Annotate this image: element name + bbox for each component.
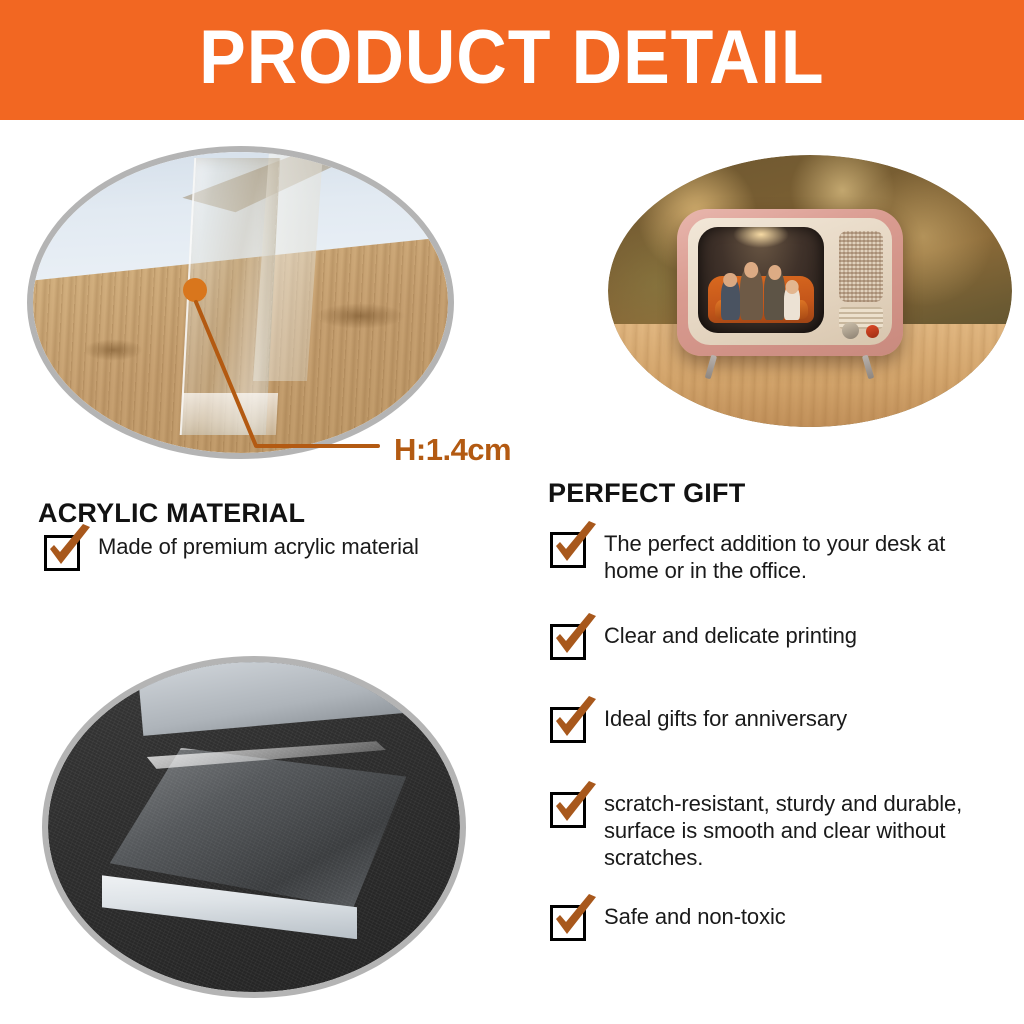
- feature-text: The perfect addition to your desk at hom…: [604, 530, 1002, 584]
- tv-speaker-grille: [839, 231, 884, 302]
- figure-head: [786, 280, 799, 293]
- tv-screen: [698, 227, 824, 333]
- figure-head: [724, 273, 738, 287]
- photo-acrylic-block-edge-on-wood-table: [33, 152, 448, 453]
- checkmark-icon: [549, 694, 601, 746]
- checkbox-checked[interactable]: [550, 624, 586, 660]
- figure-father: [740, 267, 763, 320]
- feature-item-scratch-resistant: scratch-resistant, sturdy and durable, s…: [550, 790, 1002, 871]
- feature-item-desk-addition: The perfect addition to your desk at hom…: [550, 530, 1002, 584]
- feature-text: Clear and delicate printing: [604, 622, 857, 649]
- feature-item-acrylic-material: Made of premium acrylic material: [44, 533, 514, 571]
- figure-head: [744, 262, 758, 278]
- checkmark-icon: [549, 611, 601, 663]
- figure-head: [768, 265, 781, 280]
- feature-item-safe-non-toxic: Safe and non-toxic: [550, 903, 1002, 941]
- checkmark-icon: [549, 892, 601, 944]
- photo-retro-tv-with-family: [608, 155, 1012, 427]
- feature-text: Ideal gifts for anniversary: [604, 705, 847, 732]
- wood-grain-knot: [315, 303, 405, 329]
- checkbox-checked[interactable]: [550, 792, 586, 828]
- checkbox-checked[interactable]: [44, 535, 80, 571]
- photo-acrylic-edge-image: [33, 152, 448, 453]
- checkbox-checked[interactable]: [550, 707, 586, 743]
- feature-item-clear-printing: Clear and delicate printing: [550, 622, 1002, 660]
- tv-front-panel: [688, 218, 892, 344]
- retro-tv-body: [677, 209, 903, 356]
- checkmark-icon: [549, 519, 601, 571]
- thickness-callout-dot: [183, 278, 207, 302]
- photo-clear-acrylic-block-on-slate: [48, 662, 460, 992]
- tv-tuner-knob: [842, 322, 859, 339]
- feature-item-anniversary-gift: Ideal gifts for anniversary: [550, 705, 1002, 743]
- checkbox-checked[interactable]: [550, 905, 586, 941]
- screen-glow: [733, 227, 789, 248]
- section-heading-perfect-gift: PERFECT GIFT: [548, 478, 745, 509]
- header-banner: PRODUCT DETAIL: [0, 0, 1024, 120]
- checkmark-icon: [43, 522, 95, 574]
- feature-text: Made of premium acrylic material: [98, 533, 419, 560]
- feature-text: Safe and non-toxic: [604, 903, 786, 930]
- page-title: PRODUCT DETAIL: [199, 20, 824, 96]
- photo-retro-tv-image: [608, 155, 1012, 427]
- dimension-label-height: H:1.4cm: [394, 432, 511, 468]
- acrylic-base-edge: [181, 393, 279, 435]
- tv-power-knob: [866, 325, 879, 338]
- figure-mother: [764, 269, 785, 320]
- figure-boy: [721, 278, 740, 320]
- photo-acrylic-block-image: [48, 662, 460, 992]
- checkmark-icon: [549, 779, 601, 831]
- checkbox-checked[interactable]: [550, 532, 586, 568]
- wood-grain-knot: [83, 339, 143, 361]
- figure-baby: [784, 285, 800, 320]
- feature-text: scratch-resistant, sturdy and durable, s…: [604, 790, 1002, 871]
